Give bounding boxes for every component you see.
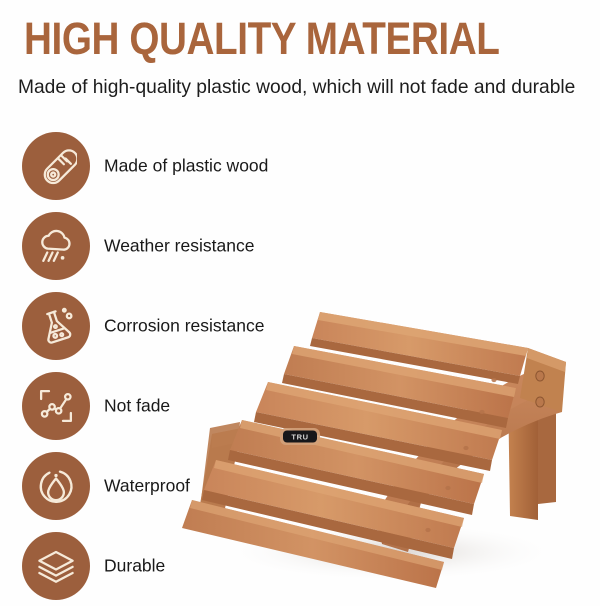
feature-item-made-of-plastic-wood: Made of plastic wood bbox=[0, 126, 320, 206]
infographic-page: HIGH QUALITY MATERIAL Made of high-quali… bbox=[0, 0, 600, 600]
flask-icon bbox=[22, 292, 90, 360]
screw-cap bbox=[536, 371, 544, 381]
page-subtitle: Made of high-quality plastic wood, which… bbox=[18, 74, 579, 100]
brand-badge: TRU bbox=[280, 428, 320, 445]
screw-cap bbox=[536, 397, 544, 407]
wood-log-icon bbox=[22, 132, 90, 200]
brand-badge-text: TRU bbox=[291, 433, 308, 442]
water-droplet-icon bbox=[22, 452, 90, 520]
stacked-layers-icon bbox=[22, 532, 90, 600]
feature-label: Made of plastic wood bbox=[104, 156, 268, 177]
feature-label: Not fade bbox=[104, 396, 170, 417]
product-image: TRU bbox=[176, 252, 600, 600]
rain-cloud-icon bbox=[22, 212, 90, 280]
feature-label: Durable bbox=[104, 556, 165, 577]
line-chart-icon bbox=[22, 372, 90, 440]
page-title: HIGH QUALITY MATERIAL bbox=[24, 14, 506, 64]
